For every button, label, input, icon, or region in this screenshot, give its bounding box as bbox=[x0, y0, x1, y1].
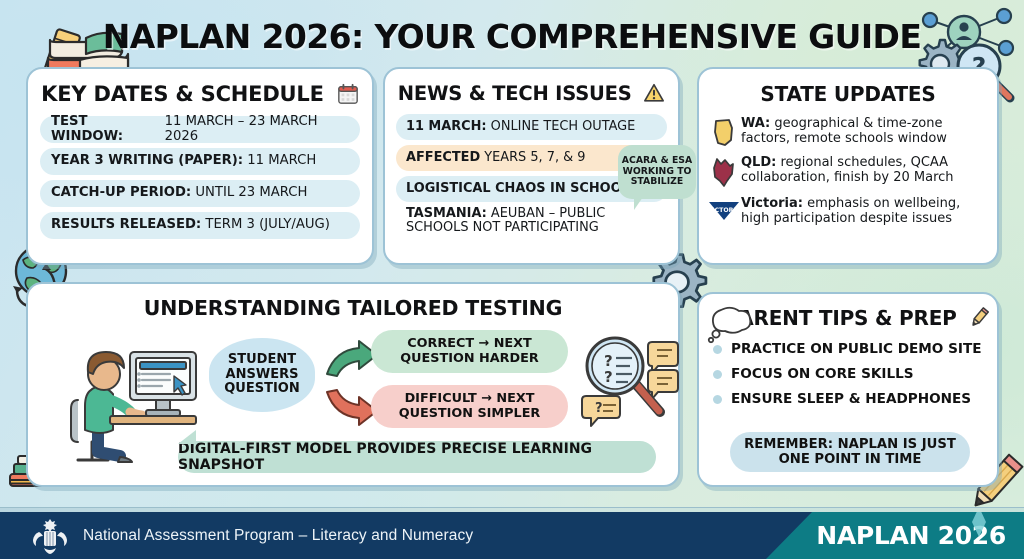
state-text: QLD: regional schedules, QCAA collaborat… bbox=[741, 155, 985, 185]
key-dates-value: TERM 3 (JULY/AUG) bbox=[205, 218, 330, 232]
state-label: QLD: bbox=[741, 155, 776, 170]
footer-bar: National Assessment Program – Literacy a… bbox=[0, 512, 1024, 559]
key-dates-value: 11 MARCH bbox=[247, 154, 316, 168]
state-row: WA: geographical & time-zone factors, re… bbox=[707, 116, 985, 148]
parent-tip-row: ENSURE SLEEP & HEADPHONES bbox=[713, 391, 987, 407]
key-dates-list: TEST WINDOW: 11 MARCH – 23 MARCH 2026 YE… bbox=[40, 116, 360, 239]
news-title: NEWS & TECH ISSUES bbox=[398, 82, 632, 105]
calendar-icon bbox=[337, 83, 359, 105]
tailored-title: UNDERSTANDING TAILORED TESTING bbox=[28, 296, 678, 320]
victoria-badge-text: VICTORIA bbox=[708, 207, 741, 214]
qld-map-icon bbox=[707, 155, 741, 189]
parent-tips-title: PARENT TIPS & PREP bbox=[726, 306, 957, 330]
footer-brand-block: NAPLAN 2026 bbox=[766, 512, 1024, 559]
state-text: Victoria: emphasis on wellbeing, high pa… bbox=[741, 196, 985, 226]
footer-brand: NAPLAN 2026 bbox=[816, 521, 1006, 550]
key-dates-label: TEST WINDOW: bbox=[51, 115, 160, 144]
svg-text:?: ? bbox=[604, 352, 613, 370]
state-updates-list: WA: geographical & time-zone factors, re… bbox=[707, 116, 985, 226]
key-dates-row: TEST WINDOW: 11 MARCH – 23 MARCH 2026 bbox=[40, 116, 360, 143]
key-dates-value: 11 MARCH – 23 MARCH 2026 bbox=[165, 115, 349, 144]
panel-parent-tips: PARENT TIPS & PREP PRACTICE ON PUBLIC DE… bbox=[697, 292, 999, 487]
key-dates-label: RESULTS RELEASED: bbox=[51, 218, 201, 232]
state-updates-title: STATE UPDATES bbox=[699, 82, 997, 106]
parent-tip-row: PRACTICE ON PUBLIC DEMO SITE bbox=[713, 341, 987, 357]
news-row: LOGISTICAL CHAOS IN SCHOOLS bbox=[396, 176, 667, 202]
state-label: Victoria: bbox=[741, 196, 803, 211]
key-dates-row: RESULTS RELEASED: TERM 3 (JULY/AUG) bbox=[40, 212, 360, 239]
outcome-difficult: DIFFICULT → NEXT QUESTION SIMPLER bbox=[371, 385, 568, 428]
outcome-correct: CORRECT → NEXT QUESTION HARDER bbox=[371, 330, 568, 373]
key-dates-label: CATCH-UP PERIOD: bbox=[51, 186, 191, 200]
key-dates-row: YEAR 3 WRITING (PAPER): 11 MARCH bbox=[40, 148, 360, 175]
parent-tip-text: ENSURE SLEEP & HEADPHONES bbox=[731, 391, 971, 407]
svg-text:?: ? bbox=[604, 368, 613, 386]
parent-tips-title-row: PARENT TIPS & PREP bbox=[699, 306, 997, 330]
state-value: geographical & time-zone factors, remote… bbox=[741, 116, 947, 146]
parent-tips-remember: REMEMBER: NAPLAN IS JUST ONE POINT IN TI… bbox=[730, 432, 970, 472]
news-title-row: NEWS & TECH ISSUES bbox=[385, 82, 678, 105]
key-dates-value: UNTIL 23 MARCH bbox=[195, 186, 307, 200]
victoria-logo-icon: VICTORIA bbox=[707, 196, 741, 222]
key-dates-row: CATCH-UP PERIOD: UNTIL 23 MARCH bbox=[40, 180, 360, 207]
warning-triangle-icon bbox=[643, 82, 665, 104]
key-dates-title: KEY DATES & SCHEDULE bbox=[41, 82, 324, 106]
panel-key-dates: KEY DATES & SCHEDULE TEST WINDOW: 11 MAR… bbox=[26, 67, 374, 265]
news-value: YEARS 5, 7, & 9 bbox=[484, 151, 585, 165]
panel-news-tech-issues: NEWS & TECH ISSUES 11 MARCH: ONLINE TECH… bbox=[383, 67, 680, 265]
magnifier-questions-icon: ? ? ? bbox=[578, 326, 682, 431]
parent-tips-list: PRACTICE ON PUBLIC DEMO SITE FOCUS ON CO… bbox=[713, 341, 987, 407]
state-label: WA: bbox=[741, 116, 770, 131]
state-row: VICTORIA Victoria: emphasis on wellbeing… bbox=[707, 196, 985, 226]
bullet-dot-icon bbox=[713, 345, 722, 354]
news-row: TASMANIA: AEUBAN – PUBLIC SCHOOLS NOT PA… bbox=[396, 207, 667, 236]
key-dates-label: YEAR 3 WRITING (PAPER): bbox=[51, 154, 243, 168]
key-dates-title-row: KEY DATES & SCHEDULE bbox=[28, 82, 372, 106]
bullet-dot-icon bbox=[713, 370, 722, 379]
news-label: AFFECTED bbox=[406, 151, 480, 165]
parent-tip-row: FOCUS ON CORE SKILLS bbox=[713, 366, 987, 382]
page-title: NAPLAN 2026: YOUR COMPREHENSIVE GUIDE bbox=[0, 17, 1024, 56]
parent-tip-text: PRACTICE ON PUBLIC DEMO SITE bbox=[731, 341, 982, 357]
svg-text:?: ? bbox=[595, 401, 603, 416]
footer-text: National Assessment Program – Literacy a… bbox=[83, 527, 473, 545]
pencil-icon bbox=[968, 307, 990, 329]
infographic-canvas: ? NAPLAN 2026: YOUR COMPREHENSIVE GUIDE … bbox=[0, 0, 1024, 559]
state-row: QLD: regional schedules, QCAA collaborat… bbox=[707, 155, 985, 189]
news-list: 11 MARCH: ONLINE TECH OUTAGE AFFECTED YE… bbox=[396, 114, 667, 236]
news-row: 11 MARCH: ONLINE TECH OUTAGE bbox=[396, 114, 667, 140]
wa-map-icon bbox=[707, 116, 741, 148]
panel-state-updates: STATE UPDATES WA: geographical & time-zo… bbox=[697, 67, 999, 265]
panel-tailored-testing: UNDERSTANDING TAILORED TESTING bbox=[26, 282, 680, 487]
news-value: ONLINE TECH OUTAGE bbox=[491, 120, 636, 134]
parent-tip-text: FOCUS ON CORE SKILLS bbox=[731, 366, 914, 382]
news-label: LOGISTICAL CHAOS IN SCHOOLS bbox=[406, 182, 639, 196]
news-label: TASMANIA: bbox=[406, 206, 487, 221]
state-text: WA: geographical & time-zone factors, re… bbox=[741, 116, 985, 146]
news-row: AFFECTED YEARS 5, 7, & 9 bbox=[396, 145, 667, 171]
news-label: 11 MARCH: bbox=[406, 120, 487, 134]
australian-coat-of-arms-icon bbox=[26, 516, 74, 556]
student-answers-bubble: STUDENT ANSWERS QUESTION bbox=[209, 338, 315, 412]
bullet-dot-icon bbox=[713, 395, 722, 404]
tailored-footer-banner: DIGITAL-FIRST MODEL PROVIDES PRECISE LEA… bbox=[178, 441, 656, 473]
